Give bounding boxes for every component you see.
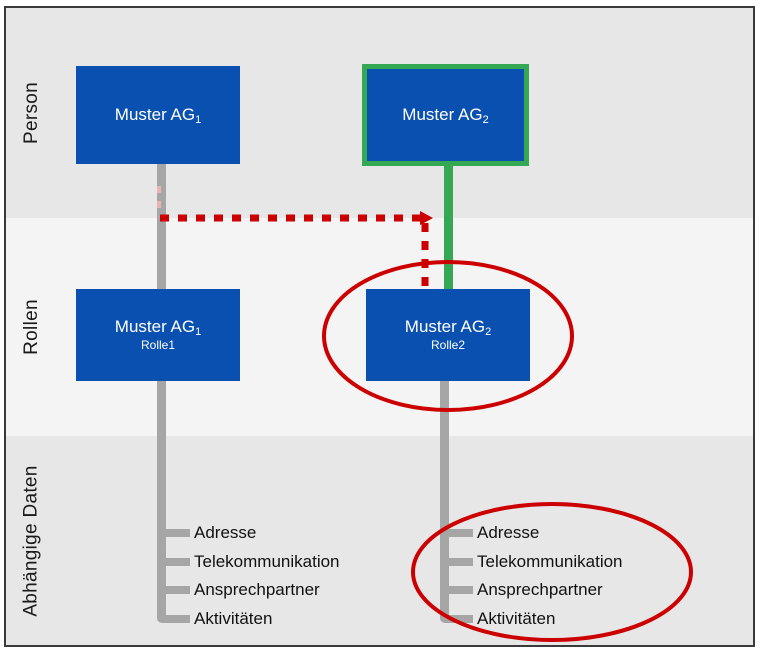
data-tree-branch-left-3 [164, 615, 190, 623]
node-role-left-role: Rolle1 [141, 339, 175, 352]
data-tree-branch-left-2 [164, 586, 190, 594]
node-role-left-title: Muster AG1 [115, 318, 201, 337]
connector-person-right-to-role-right [444, 160, 453, 303]
data-item-right-2: Ansprechpartner [477, 581, 603, 598]
data-tree-branch-left-1 [164, 558, 190, 566]
connector-role-left-to-data-left [157, 378, 166, 523]
data-item-left-3: Aktivitäten [194, 610, 272, 627]
data-item-right-1: Telekommunikation [477, 553, 623, 570]
data-item-right-0: Adresse [477, 524, 539, 541]
node-role-right-title: Muster AG2 [405, 318, 491, 337]
lane-label-daten-text: Abhängige Daten [21, 465, 43, 616]
data-tree-branch-right-3 [447, 615, 473, 623]
diagram-frame: Person Rollen Abhängige Daten Muster AG1… [4, 6, 755, 647]
node-person-left-title: Muster AG1 [115, 106, 201, 125]
lane-label-rollen-text: Rollen [21, 299, 43, 355]
data-tree-branch-right-2 [447, 586, 473, 594]
data-tree-branch-right-1 [447, 558, 473, 566]
connector-role-right-to-data-right [440, 378, 449, 518]
data-item-left-1: Telekommunikation [194, 553, 340, 570]
lane-label-daten: Abhängige Daten [6, 436, 58, 645]
data-item-right-3: Aktivitäten [477, 610, 555, 627]
data-item-left-0: Adresse [194, 524, 256, 541]
node-role-right-role: Rolle2 [431, 339, 465, 352]
lane-label-rollen: Rollen [6, 218, 58, 436]
diagram-canvas: Person Rollen Abhängige Daten Muster AG1… [0, 0, 761, 653]
node-person-right[interactable]: Muster AG2 [362, 64, 529, 166]
lane-label-person-text: Person [21, 82, 43, 144]
node-person-left[interactable]: Muster AG1 [76, 66, 240, 164]
data-tree-branch-left-0 [164, 529, 190, 537]
node-role-right[interactable]: Muster AG2 Rolle2 [366, 289, 530, 381]
lane-label-person: Person [6, 8, 58, 218]
node-person-right-title: Muster AG2 [402, 106, 488, 125]
data-item-left-2: Ansprechpartner [194, 581, 320, 598]
connector-person-left-to-role-left [157, 158, 166, 303]
data-tree-branch-right-0 [447, 529, 473, 537]
lane-band-daten [6, 436, 753, 645]
node-role-left[interactable]: Muster AG1 Rolle1 [76, 289, 240, 381]
